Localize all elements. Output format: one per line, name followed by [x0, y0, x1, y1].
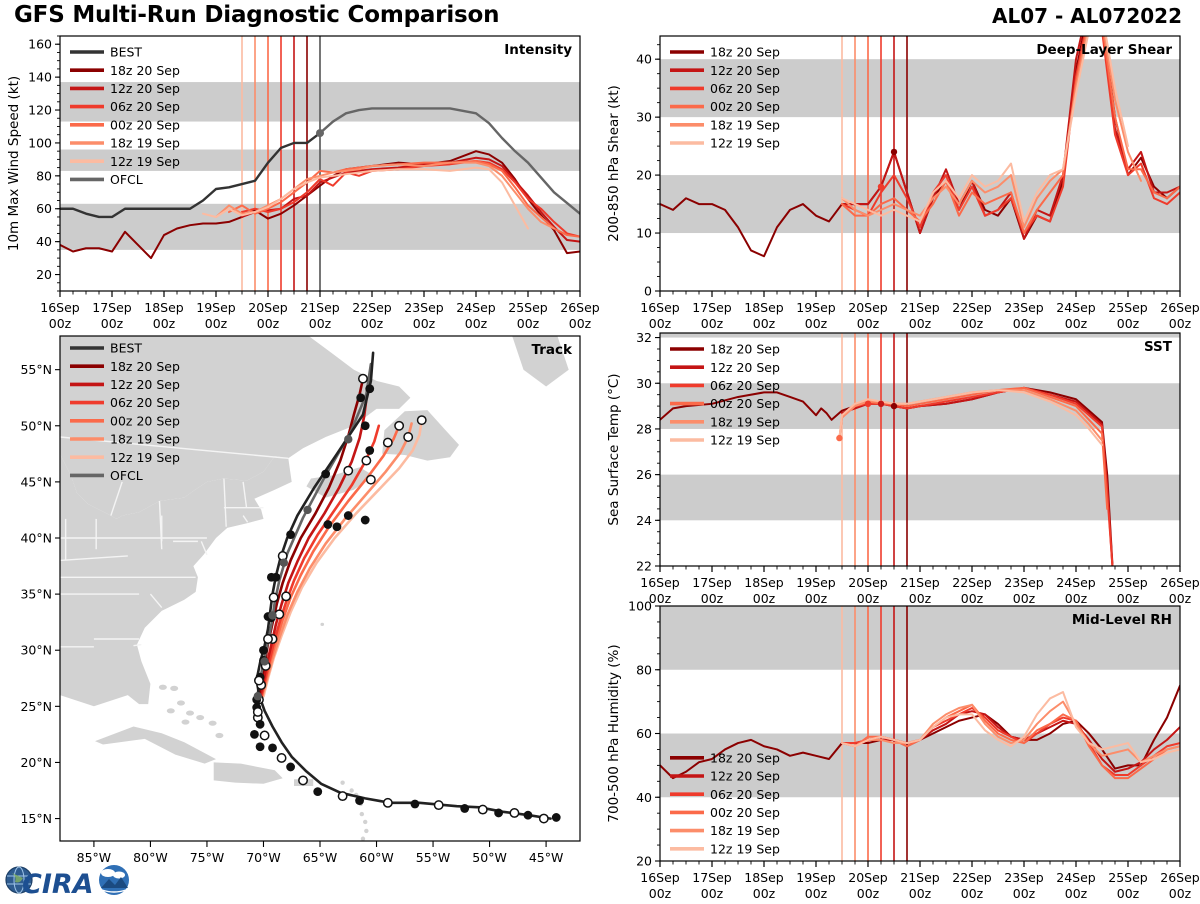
x-tick-label: 22Sep	[352, 300, 392, 315]
y-axis-label: 700-500 hPa Humidity (%)	[606, 644, 622, 822]
track-marker-open	[362, 456, 370, 464]
track-marker-filled	[272, 573, 281, 582]
track-marker-filled	[365, 446, 374, 455]
series-marker	[891, 403, 897, 409]
y-tick-label: 32	[636, 330, 652, 345]
x-tick-label: 24Sep	[1056, 575, 1096, 590]
panel-rh: 2040608010016Sep00z17Sep00z18Sep00z19Sep…	[600, 598, 1200, 898]
legend-label: 06z 20 Sep	[710, 81, 780, 96]
track-marker-open	[269, 593, 277, 601]
ofcl-start-marker	[316, 129, 324, 137]
y-tick-label: 20	[636, 168, 652, 183]
shaded-band	[660, 475, 1180, 521]
panel-shear: 01020304016Sep00z17Sep00z18Sep00z19Sep00…	[600, 28, 1200, 328]
y-tick-label: 24	[636, 513, 652, 528]
x-tick-label: 24Sep	[1056, 300, 1096, 315]
x-tick-label: 26Sep	[1160, 300, 1200, 315]
lon-tick-label: 70°W	[246, 850, 281, 865]
track-marker-filled	[355, 796, 364, 805]
landmass-antilles	[361, 837, 365, 841]
landmass-bahamas	[209, 721, 217, 726]
x-tick-label: 20Sep	[848, 300, 888, 315]
track-marker-ofcl	[280, 558, 288, 566]
x-tick-sublabel: 00z	[49, 316, 72, 328]
x-tick-label: 23Sep	[1004, 300, 1044, 315]
y-tick-label: 30	[636, 110, 652, 125]
lon-tick-label: 75°W	[190, 850, 225, 865]
track-marker-filled	[344, 511, 353, 520]
legend-label: 00z 20 Sep	[710, 99, 780, 114]
landmass-antilles	[363, 820, 367, 824]
track-marker-open	[359, 374, 367, 382]
track-marker-open	[479, 805, 487, 813]
x-tick-sublabel: 00z	[517, 316, 540, 328]
y-tick-label: 0	[644, 284, 652, 299]
x-tick-label: 21Sep	[900, 575, 940, 590]
landmass-bahamas	[186, 710, 194, 715]
series-marker	[878, 401, 884, 407]
track-marker-filled	[321, 470, 330, 479]
x-tick-sublabel: 00z	[205, 316, 228, 328]
series-marker	[865, 401, 871, 407]
x-tick-sublabel: 00z	[701, 886, 724, 898]
track-marker-open	[299, 776, 307, 784]
y-tick-label: 26	[636, 467, 652, 482]
lon-tick-label: 60°W	[359, 850, 394, 865]
x-tick-sublabel: 00z	[1117, 886, 1140, 898]
lat-tick-label: 20°N	[20, 755, 52, 770]
series-marker	[836, 435, 842, 441]
x-tick-sublabel: 00z	[413, 316, 436, 328]
x-tick-label: 25Sep	[1108, 300, 1148, 315]
track-marker-open	[367, 475, 375, 483]
track-marker-open	[395, 422, 403, 430]
legend-label: 18z 19 Sep	[710, 117, 780, 132]
track-marker-ofcl	[260, 657, 268, 665]
legend-label: 18z 20 Sep	[710, 342, 780, 357]
x-tick-label: 24Sep	[456, 300, 496, 315]
landmass-antilles	[364, 829, 368, 833]
track-marker-open	[384, 438, 392, 446]
track-marker-filled	[494, 809, 503, 818]
x-tick-label: 23Sep	[1004, 575, 1044, 590]
landmass-bermuda	[320, 623, 324, 626]
shear-chart: 01020304016Sep00z17Sep00z18Sep00z19Sep00…	[600, 28, 1200, 328]
y-tick-label: 20	[36, 267, 52, 282]
x-tick-label: 17Sep	[692, 300, 732, 315]
legend-label: 12z 20 Sep	[110, 377, 180, 392]
x-tick-label: 24Sep	[1056, 870, 1096, 885]
x-tick-label: 20Sep	[248, 300, 288, 315]
track-marker-filled	[524, 811, 533, 820]
x-tick-sublabel: 00z	[909, 886, 932, 898]
y-tick-label: 20	[636, 854, 652, 869]
x-tick-sublabel: 00z	[961, 886, 984, 898]
x-tick-sublabel: 00z	[649, 886, 672, 898]
x-tick-label: 23Sep	[1004, 870, 1044, 885]
track-marker-open	[510, 809, 518, 817]
track-marker-filled	[256, 742, 265, 751]
landmass-bahamas	[215, 733, 223, 738]
legend-label: 12z 19 Sep	[110, 154, 180, 169]
track-marker-open	[277, 754, 285, 762]
lon-tick-label: 55°W	[416, 850, 451, 865]
track-marker-open	[255, 676, 263, 684]
lon-tick-label: 80°W	[133, 850, 168, 865]
x-tick-label: 25Sep	[1108, 870, 1148, 885]
series-marker	[891, 149, 897, 155]
track-marker-filled	[411, 800, 420, 809]
y-tick-label: 100	[28, 135, 52, 150]
y-tick-label: 40	[636, 790, 652, 805]
y-tick-label: 80	[36, 168, 52, 183]
sst-chart: 22242628303216Sep00z17Sep00z18Sep00z19Se…	[600, 325, 1200, 603]
x-tick-sublabel: 00z	[1169, 886, 1192, 898]
x-tick-sublabel: 00z	[1013, 886, 1036, 898]
x-tick-label: 18Sep	[744, 300, 784, 315]
track-marker-filled	[365, 384, 374, 393]
x-tick-sublabel: 00z	[805, 886, 828, 898]
legend-label: OFCL	[110, 172, 143, 187]
rh-chart: 2040608010016Sep00z17Sep00z18Sep00z19Sep…	[600, 598, 1200, 898]
track-marker-filled	[256, 720, 265, 729]
x-tick-label: 25Sep	[508, 300, 548, 315]
legend-label: 18z 20 Sep	[710, 750, 780, 765]
landmass-antilles	[349, 788, 353, 792]
y-axis-label: Sea Surface Temp (°C)	[606, 373, 622, 525]
x-tick-label: 21Sep	[900, 300, 940, 315]
lat-tick-label: 55°N	[20, 362, 52, 377]
track-marker-open	[540, 814, 548, 822]
track-marker-filled	[286, 530, 295, 539]
track-marker-open	[264, 635, 272, 643]
track-marker-filled	[313, 787, 322, 796]
y-tick-label: 40	[36, 234, 52, 249]
panel-sst: 22242628303216Sep00z17Sep00z18Sep00z19Se…	[600, 325, 1200, 603]
x-tick-label: 26Sep	[560, 300, 600, 315]
x-tick-label: 17Sep	[692, 870, 732, 885]
y-tick-label: 10	[636, 226, 652, 241]
legend-label: OFCL	[110, 468, 143, 483]
x-tick-sublabel: 00z	[309, 316, 332, 328]
x-tick-label: 16Sep	[640, 300, 680, 315]
landmass-antilles	[360, 812, 364, 816]
track-map: 15°N20°N25°N30°N35°N40°N45°N50°N55°N85°W…	[0, 328, 600, 888]
track-marker-filled	[259, 646, 268, 655]
track-marker-open	[282, 592, 290, 600]
legend-label: BEST	[110, 341, 142, 356]
panel-title: Mid-Level RH	[1072, 612, 1172, 628]
panel-title: Intensity	[504, 42, 572, 58]
y-tick-label: 160	[28, 37, 52, 52]
x-tick-label: 22Sep	[952, 575, 992, 590]
legend-label: BEST	[110, 45, 142, 60]
track-marker-filled	[460, 804, 469, 813]
y-tick-label: 100	[628, 599, 652, 614]
legend-label: 18z 19 Sep	[110, 136, 180, 151]
series-marker	[878, 183, 884, 189]
track-marker-open	[418, 416, 426, 424]
legend-label: 18z 20 Sep	[110, 63, 180, 78]
legend-label: 06z 20 Sep	[110, 99, 180, 114]
track-marker-filled	[333, 522, 342, 531]
x-tick-sublabel: 00z	[753, 886, 776, 898]
y-tick-label: 120	[28, 103, 52, 118]
diagnostic-page: GFS Multi-Run Diagnostic Comparison AL07…	[0, 0, 1200, 900]
lon-tick-label: 45°W	[529, 850, 564, 865]
track-marker-open	[434, 801, 442, 809]
legend-label: 18z 20 Sep	[110, 359, 180, 374]
x-tick-label: 18Sep	[144, 300, 184, 315]
legend-label: 18z 19 Sep	[110, 432, 180, 447]
track-marker-open	[404, 433, 412, 441]
x-tick-label: 22Sep	[952, 870, 992, 885]
cira-badge-icon	[99, 865, 129, 895]
x-tick-sublabel: 00z	[153, 316, 176, 328]
landmass-bahamas	[196, 715, 204, 720]
legend-label: 12z 19 Sep	[710, 433, 780, 448]
landmass-antilles	[340, 780, 344, 784]
x-tick-label: 25Sep	[1108, 575, 1148, 590]
y-axis-label: 200-850 hPa Shear (kt)	[606, 85, 622, 242]
legend-label: 12z 20 Sep	[710, 63, 780, 78]
x-tick-label: 17Sep	[92, 300, 132, 315]
legend-label: 12z 20 Sep	[110, 81, 180, 96]
x-tick-label: 23Sep	[404, 300, 444, 315]
lat-tick-label: 25°N	[20, 699, 52, 714]
panel-track: 15°N20°N25°N30°N35°N40°N45°N50°N55°N85°W…	[0, 328, 600, 888]
cira-wordmark: CIRA	[22, 869, 94, 900]
landmass-bahamas	[170, 686, 178, 691]
x-tick-sublabel: 00z	[361, 316, 384, 328]
track-marker-ofcl	[303, 506, 311, 514]
x-tick-label: 18Sep	[744, 870, 784, 885]
x-tick-label: 18Sep	[744, 575, 784, 590]
x-tick-label: 19Sep	[796, 300, 836, 315]
track-marker-ofcl	[254, 692, 262, 700]
track-marker-filled	[361, 516, 370, 525]
x-tick-label: 20Sep	[848, 870, 888, 885]
x-tick-label: 22Sep	[952, 300, 992, 315]
y-tick-label: 28	[636, 421, 652, 436]
legend-label: 12z 19 Sep	[710, 136, 780, 151]
lat-tick-label: 50°N	[20, 418, 52, 433]
lat-tick-label: 30°N	[20, 643, 52, 658]
legend-label: 12z 20 Sep	[710, 360, 780, 375]
page-title: GFS Multi-Run Diagnostic Comparison	[14, 2, 499, 28]
lat-tick-label: 15°N	[20, 811, 52, 826]
x-tick-label: 26Sep	[1160, 870, 1200, 885]
panel-intensity: 2040608010012014016016Sep00z17Sep00z18Se…	[0, 28, 600, 328]
cira-logo: CIRA	[2, 860, 134, 900]
legend-label: 00z 20 Sep	[710, 396, 780, 411]
x-tick-label: 19Sep	[796, 870, 836, 885]
legend-label: 06z 20 Sep	[710, 378, 780, 393]
track-marker-open	[344, 466, 352, 474]
x-tick-sublabel: 00z	[569, 316, 592, 328]
legend-label: 18z 19 Sep	[710, 414, 780, 429]
x-tick-label: 20Sep	[848, 575, 888, 590]
y-tick-label: 30	[636, 376, 652, 391]
x-tick-sublabel: 00z	[465, 316, 488, 328]
lat-tick-label: 40°N	[20, 531, 52, 546]
y-tick-label: 60	[36, 201, 52, 216]
track-marker-filled	[361, 421, 370, 430]
legend-label: 06z 20 Sep	[110, 395, 180, 410]
legend-label: 12z 19 Sep	[110, 450, 180, 465]
panel-title: Deep-Layer Shear	[1036, 42, 1172, 58]
panel-title: SST	[1144, 339, 1173, 355]
legend-label: 18z 20 Sep	[710, 45, 780, 60]
track-marker-filled	[356, 393, 365, 402]
legend-label: 12z 19 Sep	[710, 841, 780, 856]
y-tick-label: 140	[28, 70, 52, 85]
legend-label: 18z 19 Sep	[710, 823, 780, 838]
track-marker-filled	[286, 763, 295, 772]
x-tick-label: 21Sep	[300, 300, 340, 315]
x-tick-sublabel: 00z	[257, 316, 280, 328]
shaded-band	[660, 175, 1180, 233]
intensity-chart: 2040608010012014016016Sep00z17Sep00z18Se…	[0, 28, 600, 328]
x-tick-sublabel: 00z	[101, 316, 124, 328]
track-marker-filled	[250, 730, 259, 739]
x-tick-label: 16Sep	[640, 870, 680, 885]
x-tick-label: 17Sep	[692, 575, 732, 590]
y-tick-label: 22	[636, 559, 652, 574]
x-tick-sublabel: 00z	[857, 886, 880, 898]
y-tick-label: 60	[636, 726, 652, 741]
legend-label: 06z 20 Sep	[710, 787, 780, 802]
track-marker-filled	[324, 520, 333, 529]
lat-tick-label: 35°N	[20, 587, 52, 602]
track-marker-filled	[268, 743, 277, 752]
y-axis-label: 10m Max Wind Speed (kt)	[6, 76, 22, 251]
x-tick-sublabel: 00z	[1065, 886, 1088, 898]
panel-title: Track	[532, 342, 573, 358]
track-marker-filled	[552, 813, 561, 822]
legend-label: 00z 20 Sep	[110, 413, 180, 428]
y-tick-label: 40	[636, 52, 652, 67]
landmass-bahamas	[177, 700, 185, 705]
y-tick-label: 80	[636, 662, 652, 677]
lat-tick-label: 45°N	[20, 474, 52, 489]
track-marker-open	[338, 792, 346, 800]
x-tick-label: 26Sep	[1160, 575, 1200, 590]
track-marker-ofcl	[344, 435, 352, 443]
track-marker-open	[260, 731, 268, 739]
landmass-bahamas	[181, 719, 189, 724]
track-marker-ofcl	[268, 611, 276, 619]
track-marker-open	[254, 708, 262, 716]
legend-label: 00z 20 Sep	[710, 805, 780, 820]
lon-tick-label: 50°W	[472, 850, 507, 865]
legend-label: 00z 20 Sep	[110, 117, 180, 132]
track-marker-open	[384, 799, 392, 807]
storm-id-title: AL07 - AL072022	[992, 4, 1182, 28]
x-tick-label: 19Sep	[196, 300, 236, 315]
landmass-bahamas	[159, 685, 167, 690]
x-tick-label: 19Sep	[796, 575, 836, 590]
landmass-bahamas	[167, 708, 175, 713]
shaded-band	[660, 333, 1180, 338]
x-tick-label: 21Sep	[900, 870, 940, 885]
legend-label: 12z 20 Sep	[710, 769, 780, 784]
x-tick-label: 16Sep	[640, 575, 680, 590]
lon-tick-label: 65°W	[303, 850, 338, 865]
x-tick-label: 16Sep	[40, 300, 80, 315]
